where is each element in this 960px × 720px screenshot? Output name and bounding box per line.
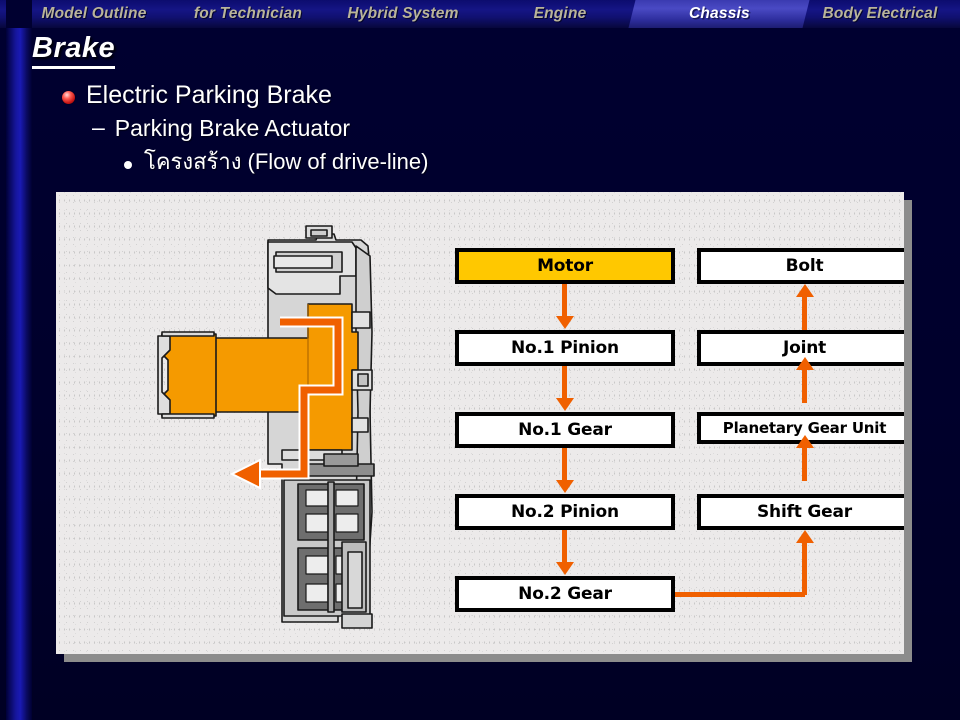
bullet-level-2-text: Parking Brake Actuator [115,116,350,140]
parking-brake-actuator-cutaway-diagram [156,212,456,642]
content-panel: Motor No.1 Pinion No.1 Gear No.2 Pinion … [56,192,904,654]
flow-box-label: No.1 Pinion [511,338,619,358]
top-navigation-bar: Model Outline for Technician Hybrid Syst… [0,0,960,28]
flow-arrow-shiftgear-to-planetary [802,448,807,481]
nav-tab-label: Body Electrical [823,5,938,23]
nav-tab-hybrid-system[interactable]: Hybrid System [324,0,482,28]
flow-arrowhead-up [796,435,814,448]
flow-box-label: Motor [537,256,593,276]
bullet-level-3-text: โครงสร้าง (Flow of drive-line) [144,150,428,173]
bullet-level-1: Electric Parking Brake [62,82,332,108]
sphere-bullet-icon [62,91,75,104]
flow-connector-horizontal [675,592,805,597]
flow-box-no2-pinion[interactable]: No.2 Pinion [455,494,675,530]
flow-arrow-no2pinion-to-no2gear [562,530,567,563]
flow-box-no2-gear[interactable]: No.2 Gear [455,576,675,612]
flow-box-motor[interactable]: Motor [455,248,675,284]
nav-tab-label: Hybrid System [347,5,458,23]
nav-tab-body-electrical[interactable]: Body Electrical [800,0,960,28]
nav-tab-label: for Technician [194,5,302,23]
page-title: Brake [32,32,115,69]
flow-box-no1-pinion[interactable]: No.1 Pinion [455,330,675,366]
left-accent-band [6,0,32,720]
nav-tab-label: Model Outline [41,5,146,23]
flow-arrow-no1pinion-to-no1gear [562,366,567,399]
nav-tab-model-outline[interactable]: Model Outline [16,0,172,28]
flow-arrowhead-down [556,480,574,493]
flow-arrowhead-down [556,562,574,575]
nav-tab-chassis[interactable]: Chassis [629,0,810,28]
flow-arrow-motor-to-no1-pinion [562,284,567,317]
nav-tab-engine[interactable]: Engine [490,0,630,28]
flow-arrowhead-down [556,398,574,411]
bullet-level-2: – Parking Brake Actuator [92,116,350,140]
flow-box-shift-gear[interactable]: Shift Gear [697,494,904,530]
flow-box-no1-gear[interactable]: No.1 Gear [455,412,675,448]
page-title-text: Brake [32,32,115,69]
dash-bullet-icon: – [92,116,105,139]
bullet-level-1-text: Electric Parking Brake [86,82,332,108]
bullet-level-3: โครงสร้าง (Flow of drive-line) [124,150,428,173]
flow-box-label: Joint [783,338,826,358]
flow-arrowhead-up [796,530,814,543]
flow-box-label: No.1 Gear [518,420,612,440]
nav-tab-label: Engine [534,5,587,23]
flow-box-label: No.2 Pinion [511,502,619,522]
slide: Model Outline for Technician Hybrid Syst… [0,0,960,720]
nav-tab-for-technician[interactable]: for Technician [172,0,324,28]
flow-arrow-planetary-to-joint [802,370,807,403]
flow-box-label: No.2 Gear [518,584,612,604]
flow-arrowhead-up [796,284,814,297]
flow-box-label: Shift Gear [757,502,852,522]
flow-arrow-no1gear-to-no2pinion [562,448,567,481]
dot-bullet-icon [124,161,132,169]
flow-arrowhead-down [556,316,574,329]
flow-box-label: Bolt [786,256,824,276]
flow-connector-vertical [802,543,807,595]
nav-tab-label: Chassis [689,5,750,23]
flow-box-bolt[interactable]: Bolt [697,248,904,284]
flow-arrowhead-up [796,357,814,370]
flow-arrow-joint-to-bolt [802,297,807,330]
